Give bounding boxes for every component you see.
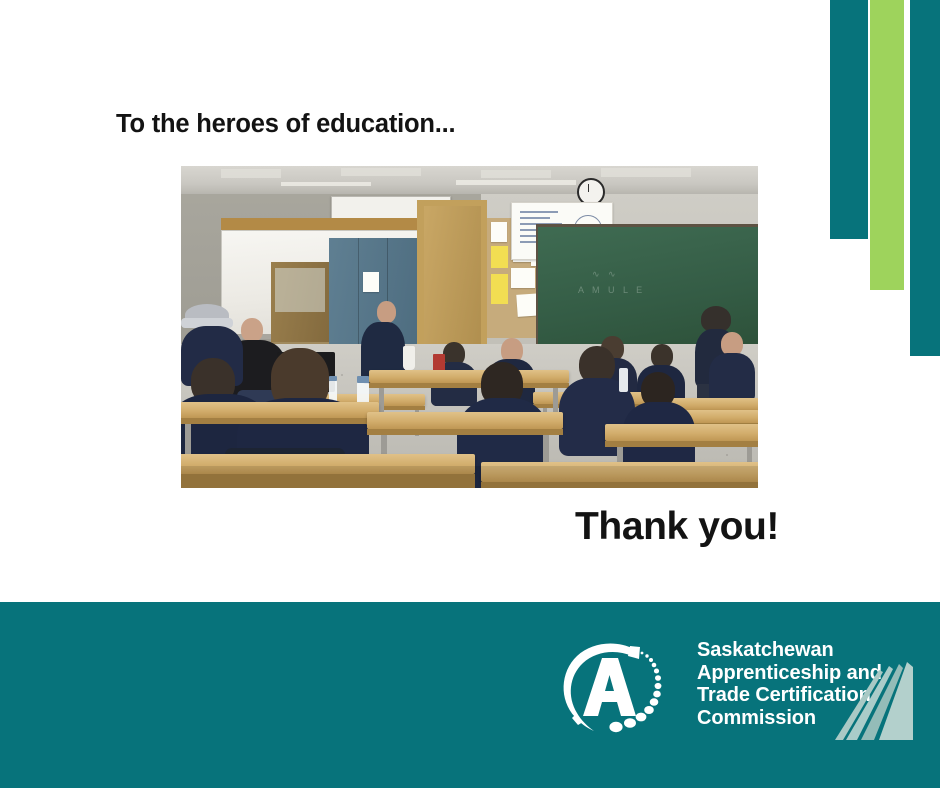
water-bottle-right <box>619 368 628 392</box>
table-mid-left <box>181 402 379 418</box>
table-edge <box>367 429 563 435</box>
table-edge <box>181 418 379 424</box>
page-title: To the heroes of education... <box>116 110 455 139</box>
table-edge <box>369 383 569 388</box>
table-mid-right <box>367 412 563 429</box>
wood-cabinet <box>271 262 329 342</box>
decorative-bar-green <box>870 0 904 290</box>
white-cup <box>403 346 415 370</box>
demo-table <box>369 370 569 383</box>
organization-logo: Saskatchewan Apprenticeship and Trade Ce… <box>556 634 916 744</box>
table-front-right <box>605 424 758 441</box>
decorative-bar-teal-tall <box>910 0 940 356</box>
ceiling <box>181 166 758 196</box>
classroom-photo: ∿ ∿ A M U L E <box>181 166 758 488</box>
apprenticeship-a-mark-icon <box>556 636 666 742</box>
decorative-bar-teal-short <box>830 0 868 239</box>
closing-text: Thank you! <box>575 505 779 549</box>
table-edge <box>605 441 758 447</box>
fan-sheaf-icon <box>833 658 917 742</box>
door <box>424 206 481 346</box>
social-graphic-canvas: To the heroes of education... <box>0 0 940 788</box>
